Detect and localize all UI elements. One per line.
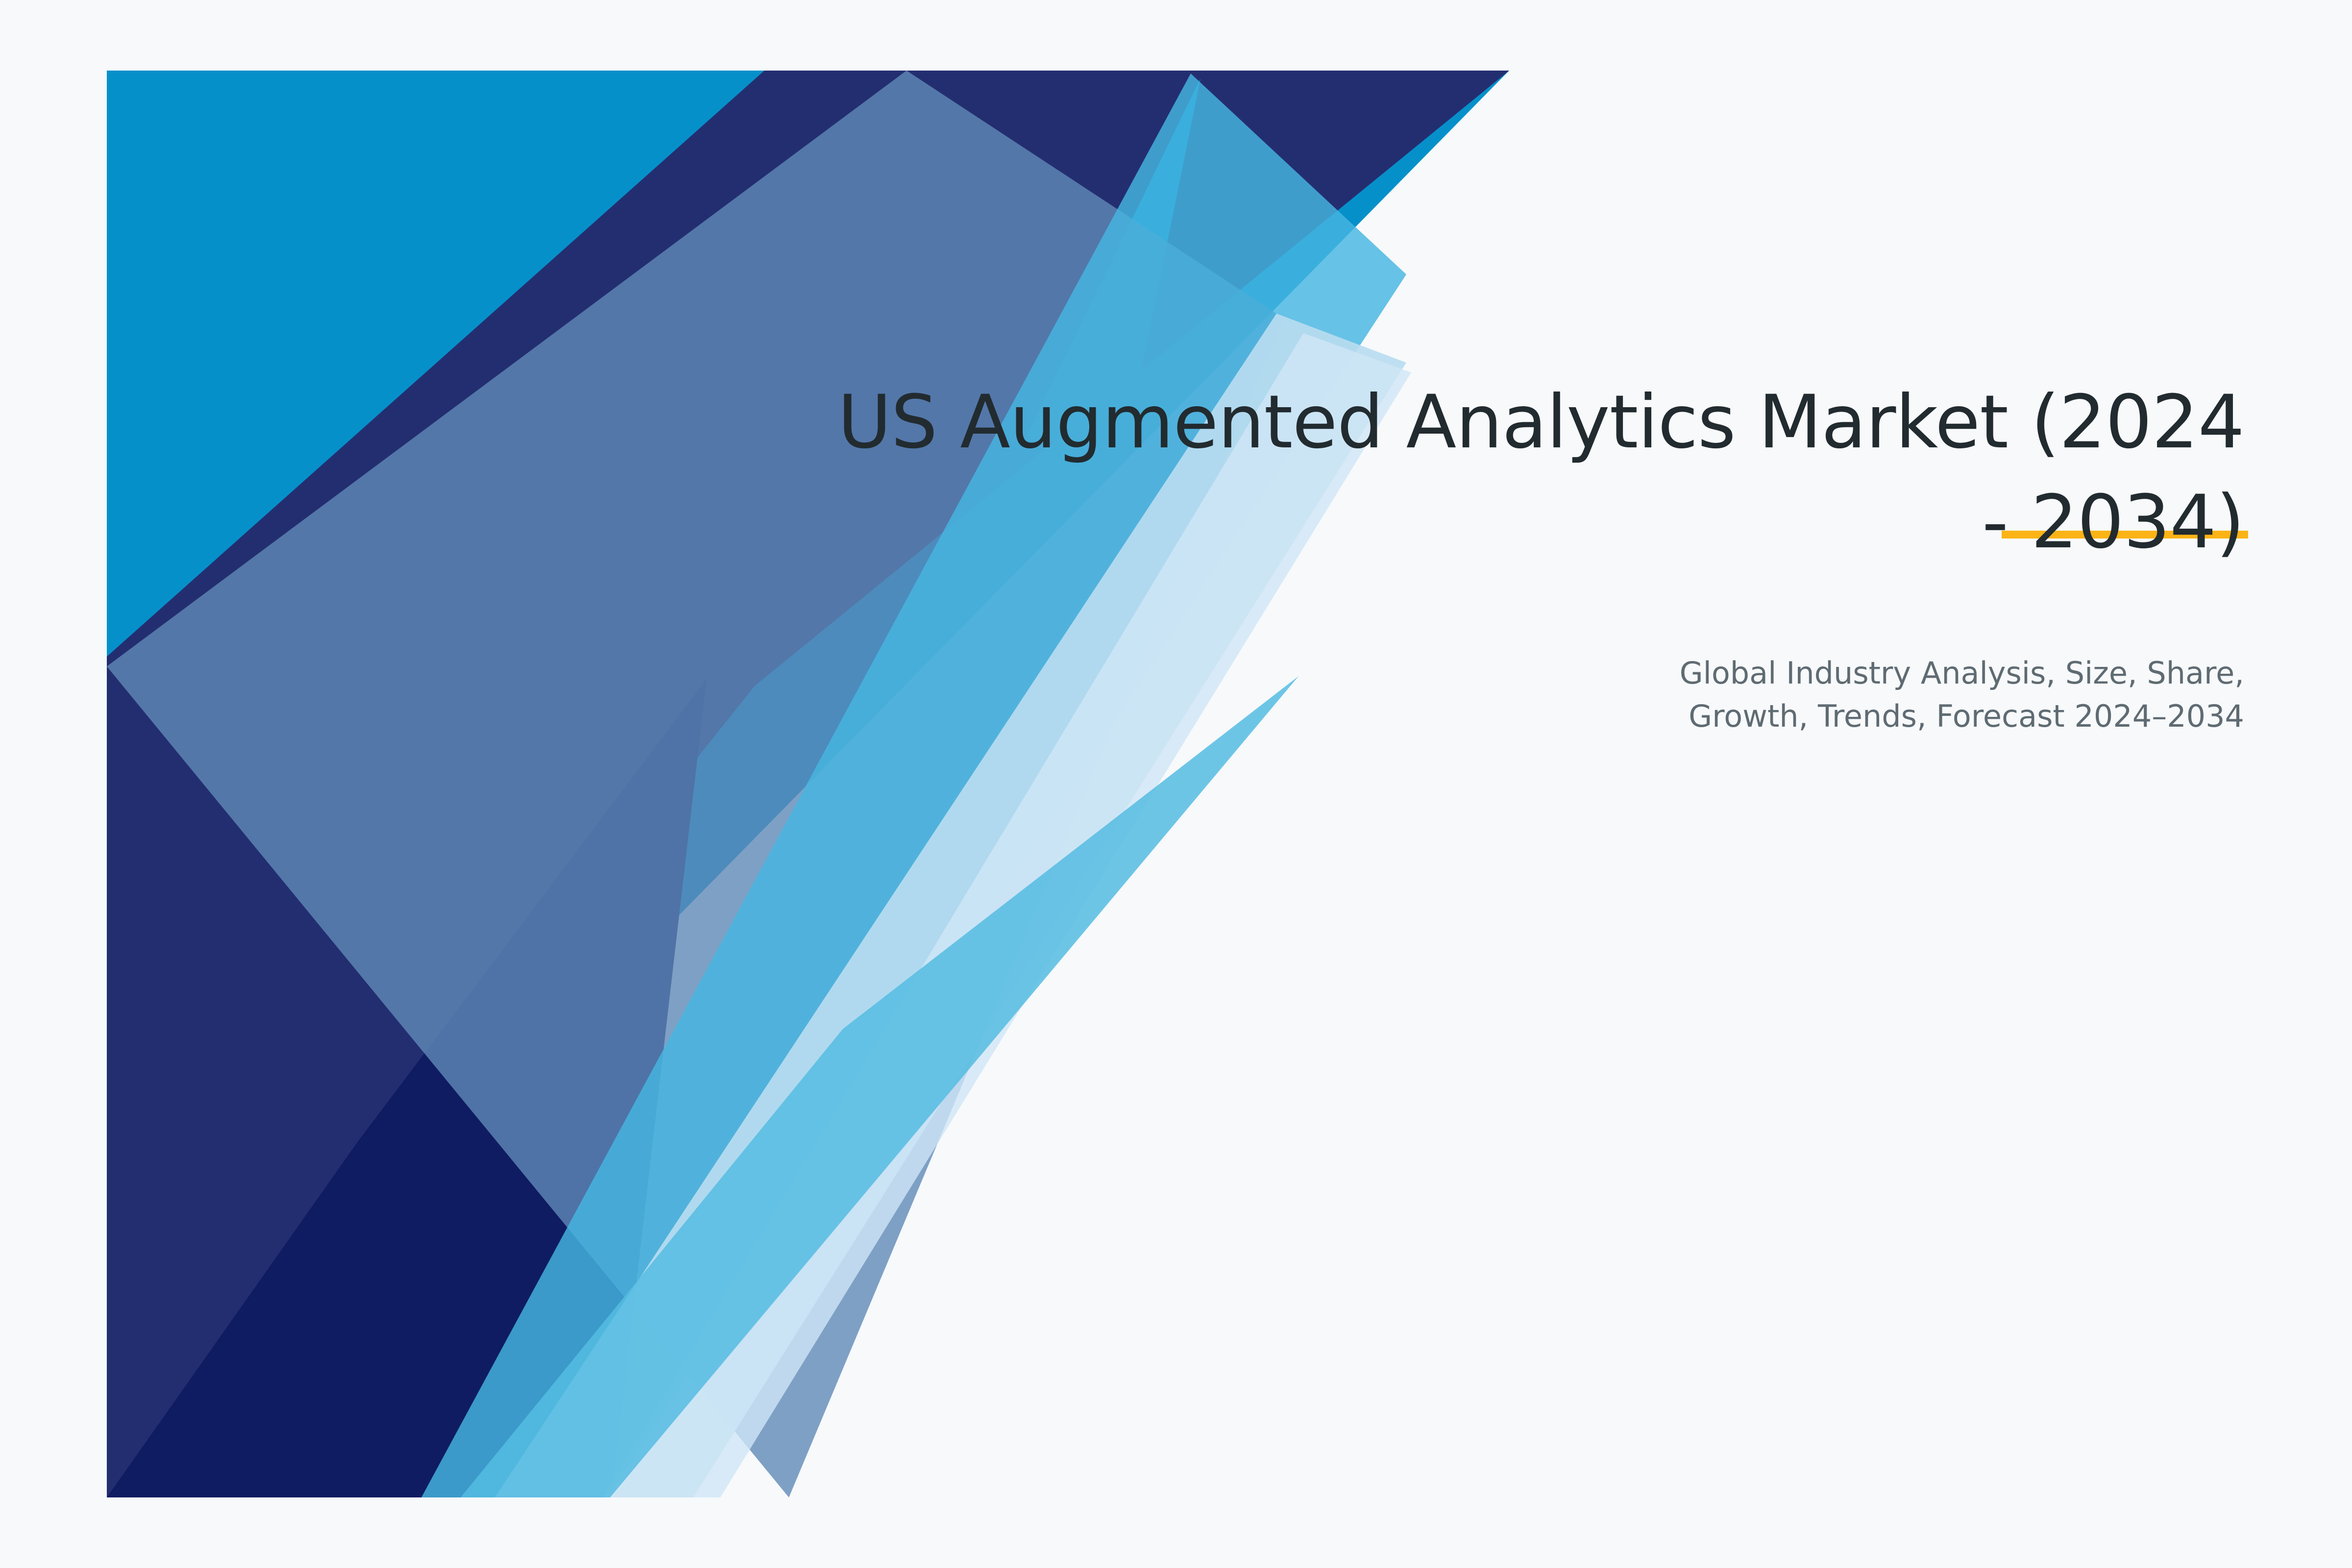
cover-text-block: US Augmented Analytics Market (2024 - 20… <box>735 372 2244 572</box>
shape-deep-navy-spike <box>107 679 707 1497</box>
shape-sky-bottom-tail <box>461 676 1298 1497</box>
abstract-geometric-cover-graphic <box>0 0 2352 1568</box>
shape-slate-translucent-panel <box>107 71 1284 1497</box>
cover-page: US Augmented Analytics Market (2024 - 20… <box>0 0 2352 1568</box>
shape-cyan-base <box>107 71 1509 1497</box>
shape-sky-ribbon <box>421 73 1406 1497</box>
page-title: US Augmented Analytics Market (2024 - 20… <box>735 372 2244 572</box>
page-subtitle: Global Industry Analysis, Size, Share, G… <box>1421 652 2244 738</box>
shape-deep-navy-lower-block <box>147 1004 612 1497</box>
shape-navy-wedge <box>107 71 1509 1497</box>
